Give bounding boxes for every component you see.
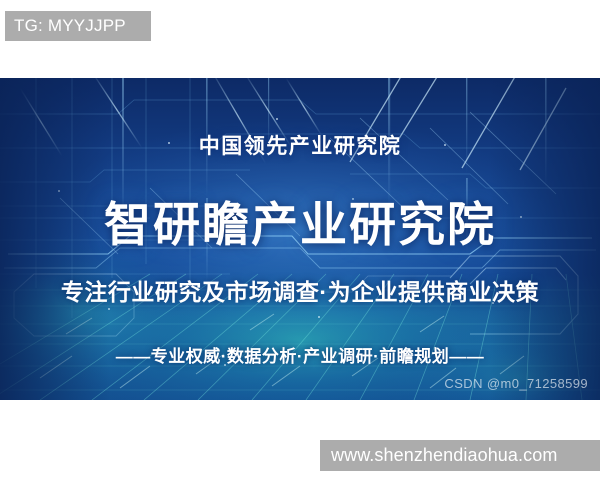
csdn-watermark-label: CSDN @m0_71258599 xyxy=(444,376,588,391)
banner-background-graphic xyxy=(0,78,600,400)
site-url-watermark-badge: www.shenzhendiaohua.com xyxy=(320,440,600,471)
telegram-watermark-label: TG: MYYJJPP xyxy=(14,16,126,36)
promotional-banner: 中国领先产业研究院 智研瞻产业研究院 专注行业研究及市场调查·为企业提供商业决策… xyxy=(0,78,600,400)
site-url-watermark-label: www.shenzhendiaohua.com xyxy=(331,445,557,466)
telegram-watermark-badge: TG: MYYJJPP xyxy=(5,11,151,41)
